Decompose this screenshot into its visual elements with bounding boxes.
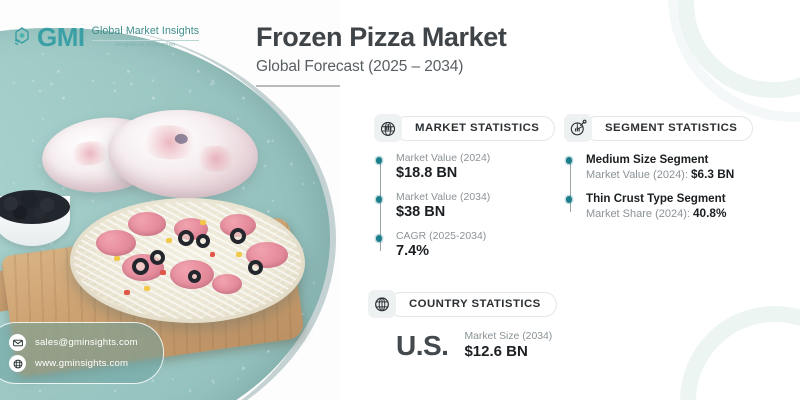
frozen-pizza-main	[70, 198, 305, 323]
market-stat-label: CAGR (2025-2034)	[396, 231, 555, 242]
globe-icon	[9, 355, 26, 372]
olive-ring-topping	[150, 250, 165, 265]
market-stat-value: $18.8 BN	[396, 165, 555, 181]
globe-icon	[368, 290, 396, 318]
salami-topping	[96, 230, 136, 256]
corn-topping	[114, 256, 120, 261]
segment-stat-value: $6.3 BN	[691, 167, 734, 181]
logo-divider	[92, 40, 200, 41]
timeline-line	[570, 159, 571, 212]
decorative-ring-bottom-right	[680, 306, 800, 400]
corn-topping	[200, 220, 206, 225]
contact-website-row[interactable]: www.gminsights.com	[9, 353, 151, 374]
timeline-dot	[376, 196, 383, 203]
segment-stat-title: Thin Crust Type Segment	[586, 192, 753, 205]
segment-statistics-title: SEGMENT STATISTICS	[584, 116, 753, 141]
pie-chart-target-icon	[564, 114, 592, 142]
segment-statistics-panel: SEGMENT STATISTICS Medium Size Segment M…	[564, 114, 753, 220]
timeline-dot	[376, 235, 383, 242]
country-metric: Market Size (2034) $12.6 BN	[464, 331, 552, 362]
page-subtitle: Global Forecast (2025 – 2034)	[256, 58, 506, 76]
segment-stat-metric-label: Market Share (2024):	[586, 208, 693, 220]
market-stat-label: Market Value (2024)	[396, 153, 555, 164]
envelope-icon	[9, 334, 26, 351]
contact-email-text: sales@gminsights.com	[35, 337, 138, 348]
decorative-ring-top-right-outer	[668, 0, 800, 122]
frozen-blotch	[193, 145, 238, 173]
country-metric-label: Market Size (2034)	[464, 331, 552, 342]
olive-ring-topping	[196, 234, 210, 248]
pepper-topping	[124, 290, 130, 295]
pepper-topping	[160, 270, 166, 275]
segment-stat-metric: Market Value (2024): $6.3 BN	[586, 167, 753, 181]
decorative-ring-top-right	[678, 0, 800, 98]
contact-website-text: www.gminsights.com	[35, 358, 128, 369]
olive-ring-topping	[132, 258, 149, 275]
segment-statistics-list: Medium Size Segment Market Value (2024):…	[564, 153, 753, 220]
contact-email-row[interactable]: sales@gminsights.com	[9, 332, 151, 353]
title-underline	[256, 85, 340, 87]
market-statistics-panel: MARKET STATISTICS Market Value (2024) $1…	[374, 114, 555, 259]
market-stat-label: Market Value (2034)	[396, 192, 555, 203]
market-stat-value: 7.4%	[396, 243, 555, 259]
timeline-dot	[376, 157, 383, 164]
timeline-dot	[566, 196, 573, 203]
contact-badge: sales@gminsights.com www.gminsights.com	[0, 322, 164, 384]
page-header: Frozen Pizza Market Global Forecast (202…	[256, 22, 506, 87]
globe-bar-chart-icon	[374, 114, 402, 142]
segment-stat-value: 40.8%	[693, 206, 726, 220]
pepper-topping	[210, 252, 215, 257]
salami-topping	[212, 274, 242, 294]
corn-topping	[144, 286, 150, 291]
brand-logo[interactable]: GMI Global Market Insights Insights to I…	[14, 22, 199, 53]
country-statistics-header: COUNTRY STATISTICS	[368, 290, 557, 318]
olive-ring-topping	[230, 228, 246, 244]
frozen-blotch	[138, 124, 202, 161]
olive-ring-topping	[188, 270, 201, 283]
gmi-logo-icon	[14, 27, 30, 49]
salami-topping	[128, 212, 166, 236]
olive-ring-topping	[248, 260, 263, 275]
country-statistics-body: U.S. Market Size (2034) $12.6 BN	[368, 330, 557, 362]
logo-tagline: Insights to Innovation	[92, 43, 200, 49]
olive-ring-topping	[178, 230, 194, 246]
segment-stat-item: Medium Size Segment Market Value (2024):…	[586, 153, 753, 181]
segment-stat-metric-label: Market Value (2024):	[586, 169, 691, 181]
page-title: Frozen Pizza Market	[256, 22, 506, 53]
market-statistics-list: Market Value (2024) $18.8 BN Market Valu…	[374, 153, 555, 259]
market-stat-item: Market Value (2034) $38 BN	[396, 192, 555, 220]
infographic-poster: sales@gminsights.com www.gminsights.com …	[0, 0, 800, 400]
country-statistics-title: COUNTRY STATISTICS	[388, 292, 557, 317]
market-stat-item: Market Value (2024) $18.8 BN	[396, 153, 555, 181]
market-statistics-title: MARKET STATISTICS	[394, 116, 555, 141]
corn-topping	[166, 238, 172, 243]
market-statistics-header: MARKET STATISTICS	[374, 114, 555, 142]
segment-stat-item: Thin Crust Type Segment Market Share (20…	[586, 192, 753, 220]
market-stat-value: $38 BN	[396, 204, 555, 220]
segment-stat-metric: Market Share (2024): 40.8%	[586, 206, 753, 220]
country-code: U.S.	[396, 330, 448, 362]
country-statistics-panel: COUNTRY STATISTICS U.S. Market Size (203…	[368, 290, 557, 362]
frozen-blotch	[67, 139, 113, 167]
logo-wordmark: Global Market Insights Insights to Innov…	[92, 26, 200, 48]
timeline-dot	[566, 157, 573, 164]
logo-gmi-text: GMI	[37, 22, 85, 53]
market-stat-item: CAGR (2025-2034) 7.4%	[396, 231, 555, 259]
segment-stat-title: Medium Size Segment	[586, 153, 753, 166]
country-metric-value: $12.6 BN	[464, 343, 552, 360]
corn-topping	[236, 252, 242, 257]
segment-statistics-header: SEGMENT STATISTICS	[564, 114, 753, 142]
logo-company-name: Global Market Insights	[92, 26, 200, 37]
